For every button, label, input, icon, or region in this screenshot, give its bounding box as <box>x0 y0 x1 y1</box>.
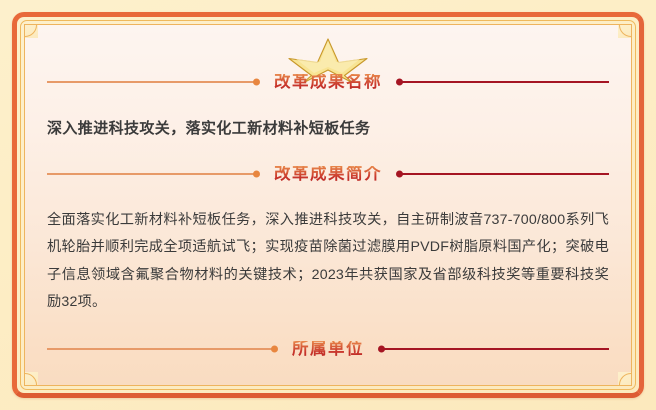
section-title-result-name: 改革成果名称 <box>258 74 398 91</box>
section-header-result-brief: 改革成果简介 <box>47 159 609 189</box>
section-title-affiliated-unit: 所属单位 <box>276 341 380 358</box>
section-rule-left <box>47 173 258 175</box>
panel-inner: 改革成果名称 深入推进科技攻关，落实化工新材料补短板任务 改革成果简介 全面落实… <box>25 25 631 385</box>
result-name-text: 深入推进科技攻关，落实化工新材料补短板任务 <box>47 118 609 139</box>
section-rule-left <box>47 81 258 83</box>
section-rule-right <box>380 348 609 350</box>
result-brief-text: 全面落实化工新材料补短板任务，深入推进科技攻关，自主研制波音737-700/80… <box>47 207 609 316</box>
certificate-page: 改革成果名称 深入推进科技攻关，落实化工新材料补短板任务 改革成果简介 全面落实… <box>0 0 656 410</box>
section-rule-left <box>47 348 276 350</box>
section-header-result-name: 改革成果名称 <box>47 67 609 97</box>
section-title-result-brief: 改革成果简介 <box>258 166 398 183</box>
section-rule-right <box>398 81 609 83</box>
section-rule-right <box>398 173 609 175</box>
section-header-affiliated-unit: 所属单位 <box>47 334 609 364</box>
content-panel: 改革成果名称 深入推进科技攻关，落实化工新材料补短板任务 改革成果简介 全面落实… <box>24 24 632 386</box>
